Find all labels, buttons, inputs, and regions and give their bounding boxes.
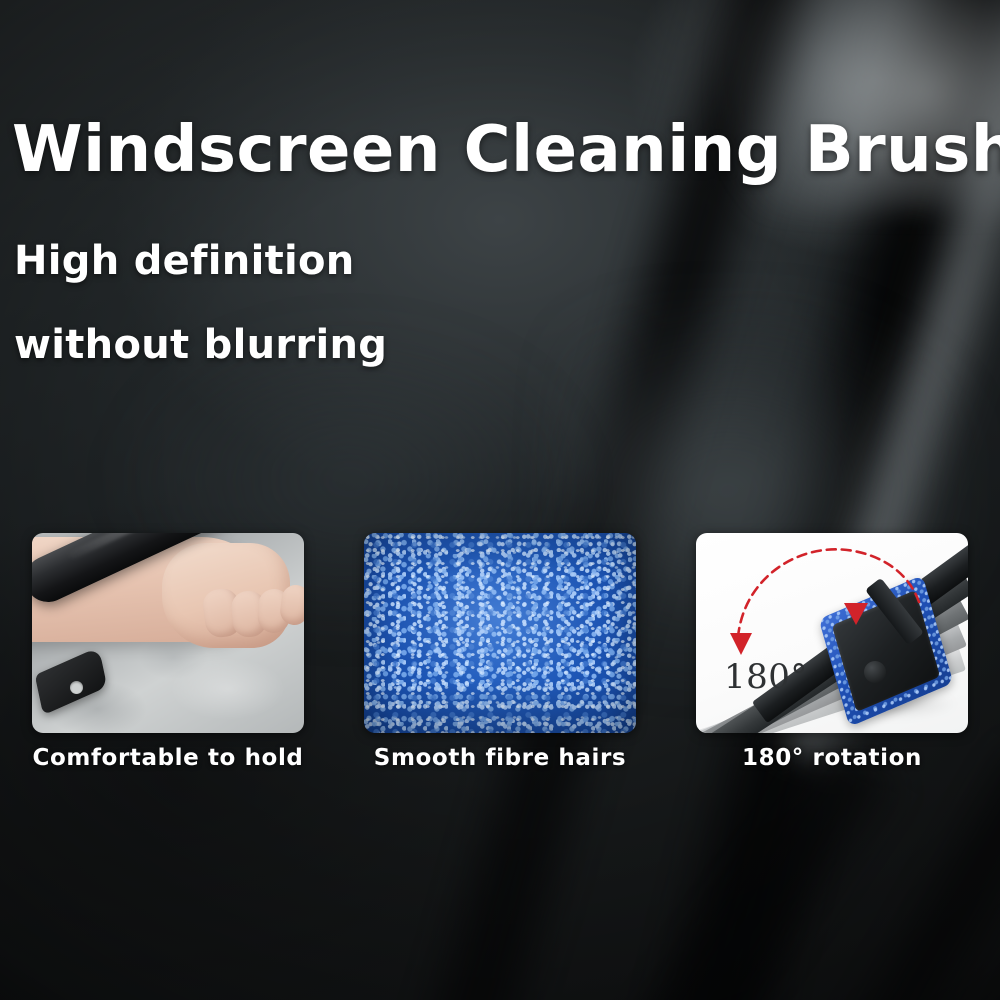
pivot-joint-shape	[864, 661, 886, 683]
feature-caption: Smooth fibre hairs	[364, 745, 636, 771]
feature-caption: Comfortable to hold	[32, 745, 304, 771]
rotation-diagram-photo: 180°	[696, 533, 968, 733]
page-title: Windscreen Cleaning Brush	[12, 118, 988, 182]
arrow-head-left-icon	[730, 633, 752, 655]
angle-label: 180°	[724, 657, 808, 697]
feature-card: 180° 180° rotation	[696, 533, 968, 733]
feature-card: Smooth fibre hairs	[364, 533, 636, 733]
photo-shading-overlay	[364, 533, 636, 733]
feature-card: Comfortable to hold	[32, 533, 304, 733]
hand-holding-brush-handle-photo	[32, 533, 304, 733]
feature-caption: 180° rotation	[696, 745, 968, 771]
subtitle-line-2: without blurring	[14, 325, 387, 365]
hang-hole-icon	[70, 681, 83, 694]
blue-microfibre-texture-photo	[364, 533, 636, 733]
feature-card-row: Comfortable to hold Smooth fibre hairs	[0, 533, 1000, 793]
product-poster: Windscreen Cleaning Brush High definitio…	[0, 0, 1000, 1000]
subtitle-line-1: High definition	[14, 241, 355, 281]
